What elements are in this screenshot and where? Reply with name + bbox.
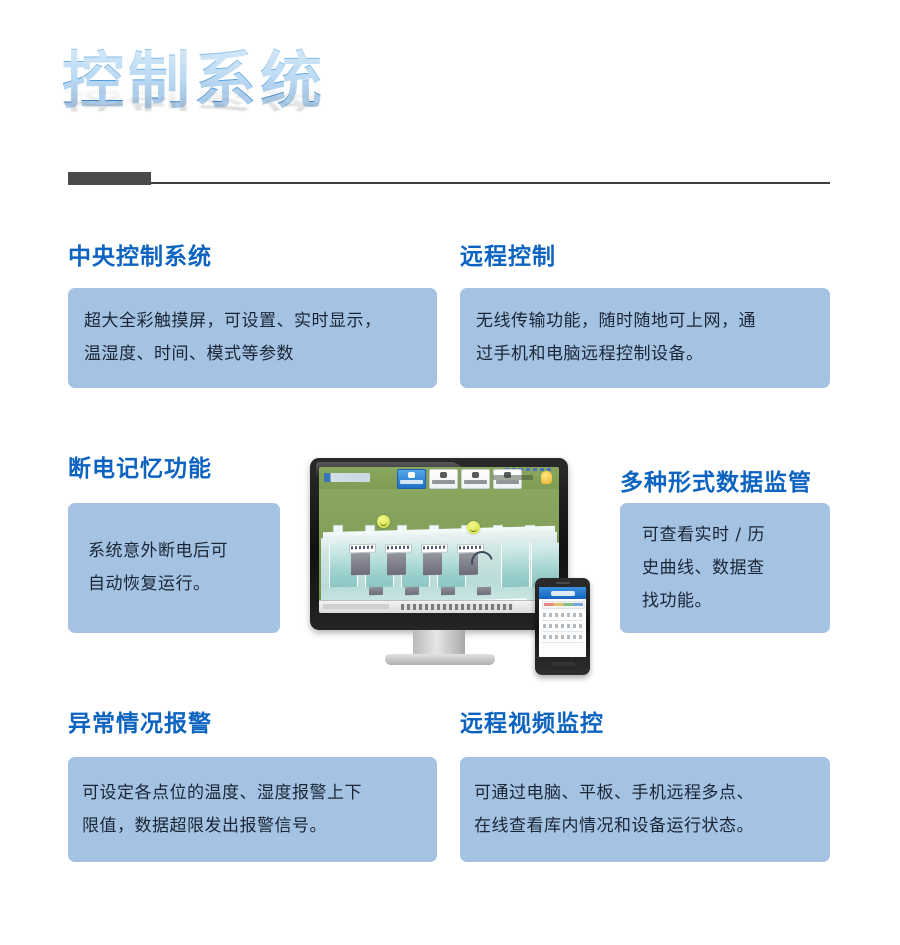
status-bar-ticker — [401, 604, 513, 610]
app-tab-label — [432, 480, 455, 484]
app-status-text — [493, 475, 533, 480]
device-illustration — [305, 450, 595, 680]
phone-list-row — [543, 613, 582, 617]
warehouse-3d-scene — [319, 489, 559, 613]
monitor-stand-neck — [413, 630, 465, 656]
monitor-screen — [319, 467, 559, 613]
room-data-label — [349, 544, 376, 554]
pallet-crate — [405, 587, 419, 595]
storage-rack — [423, 551, 442, 576]
feature-card-text: 系统意外断电后可 自动恢复运行。 — [88, 535, 260, 601]
feature-card-text: 可设定各点位的温度、湿度报警上下 限值，数据超限发出报警信号。 — [82, 777, 423, 843]
section-heading-central-control: 中央控制系统 — [68, 237, 212, 271]
page-title-block: 控制系统 控制系统 — [62, 44, 462, 174]
app-tab-label — [400, 480, 423, 484]
phone-app-header — [539, 587, 586, 599]
phone-list-row — [543, 624, 582, 628]
section-heading-remote-video: 远程视频监控 — [460, 704, 604, 738]
feature-card-text: 无线传输功能，随时随地可上网，通 过手机和电脑远程控制设备。 — [476, 305, 814, 371]
feature-card-text: 超大全彩触摸屏，可设置、实时显示， 温湿度、时间、模式等参数 — [84, 305, 421, 371]
header-divider — [68, 172, 830, 186]
storage-rack — [387, 551, 406, 576]
page-title: 控制系统 — [62, 44, 462, 118]
desktop-monitor — [310, 458, 568, 630]
app-tab-1 — [397, 469, 426, 489]
feature-card-abnormal-alarm: 可设定各点位的温度、湿度报警上下 限值，数据超限发出报警信号。 — [68, 757, 437, 862]
phone-app-title — [551, 591, 575, 596]
feature-card-power-memory: 系统意外断电后可 自动恢复运行。 — [68, 503, 280, 633]
phone-list-divider — [542, 631, 583, 632]
monitor-icon — [408, 472, 415, 478]
pallet-crate — [369, 587, 383, 595]
monitor-status-bar — [319, 600, 559, 613]
app-tab-2 — [429, 469, 458, 489]
section-heading-data-supervision: 多种形式数据监管 — [620, 463, 812, 497]
feature-card-text: 可查看实时 / 历 史曲线、数据查 找功能。 — [642, 519, 808, 618]
feature-card-central-control: 超大全彩触摸屏，可设置、实时显示， 温湿度、时间、模式等参数 — [68, 288, 437, 388]
phone-list-divider — [542, 642, 583, 643]
pallet-crate — [441, 587, 455, 595]
user-icon — [440, 472, 447, 478]
monitor-stand-base — [385, 654, 495, 665]
chart-icon — [472, 472, 479, 478]
phone-speaker — [556, 582, 570, 584]
storage-rack — [351, 551, 370, 576]
phone-home-button — [551, 662, 575, 669]
room-data-label — [385, 544, 412, 554]
app-tab-label — [496, 480, 519, 484]
phone-screen — [539, 587, 586, 657]
app-logo-icon — [324, 473, 370, 482]
app-tab-label — [464, 480, 487, 484]
monitor-app-toolbar — [319, 467, 559, 489]
status-smiley-icon — [467, 521, 480, 534]
section-heading-abnormal-alarm: 异常情况报警 — [68, 704, 212, 738]
divider-accent-block — [68, 172, 151, 185]
status-bar-segment — [323, 604, 389, 609]
room-data-label — [421, 544, 448, 554]
status-smiley-icon — [377, 515, 390, 528]
feature-card-remote-video: 可通过电脑、平板、手机远程多点、 在线查看库内情况和设备运行状态。 — [460, 757, 830, 862]
pallet-crate — [477, 587, 491, 595]
feature-card-data-supervision: 可查看实时 / 历 史曲线、数据查 找功能。 — [620, 503, 830, 633]
phone-tab-strip — [542, 601, 585, 609]
storage-room — [501, 543, 530, 588]
feature-card-text: 可通过电脑、平板、手机远程多点、 在线查看库内情况和设备运行状态。 — [474, 777, 816, 843]
divider-line — [68, 182, 830, 184]
phone-list-row — [543, 635, 582, 639]
bell-icon — [541, 471, 552, 484]
smartphone — [535, 578, 590, 675]
section-heading-power-memory: 断电记忆功能 — [68, 449, 212, 483]
feature-card-remote-control: 无线传输功能，随时随地可上网，通 过手机和电脑远程控制设备。 — [460, 288, 830, 388]
section-heading-remote-control: 远程控制 — [460, 237, 556, 271]
phone-list-divider — [542, 620, 583, 621]
app-tab-3 — [461, 469, 490, 489]
